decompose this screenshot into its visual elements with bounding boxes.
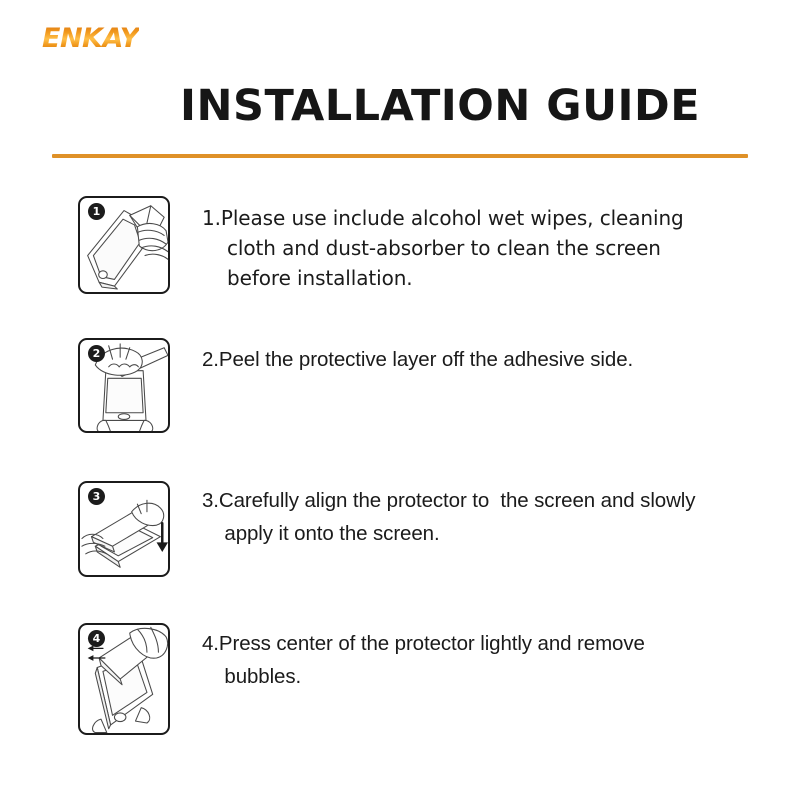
- step-3-text: 3.Carefully align the protector to the s…: [202, 484, 747, 550]
- step-3-number: 3: [88, 488, 105, 505]
- step-4-number: 4: [88, 630, 105, 647]
- step-1-text: 1.Please use include alcohol wet wipes, …: [202, 203, 702, 293]
- step-1-number: 1: [88, 203, 105, 220]
- step-2-text: 2.Peel the protective layer off the adhe…: [202, 343, 722, 376]
- page-title: INSTALLATION GUIDE: [180, 82, 700, 131]
- brand-logo: ENKAY: [42, 25, 139, 52]
- step-4-text: 4.Press center of the protector lightly …: [202, 627, 732, 693]
- title-divider: [52, 154, 748, 158]
- step-2-number: 2: [88, 345, 105, 362]
